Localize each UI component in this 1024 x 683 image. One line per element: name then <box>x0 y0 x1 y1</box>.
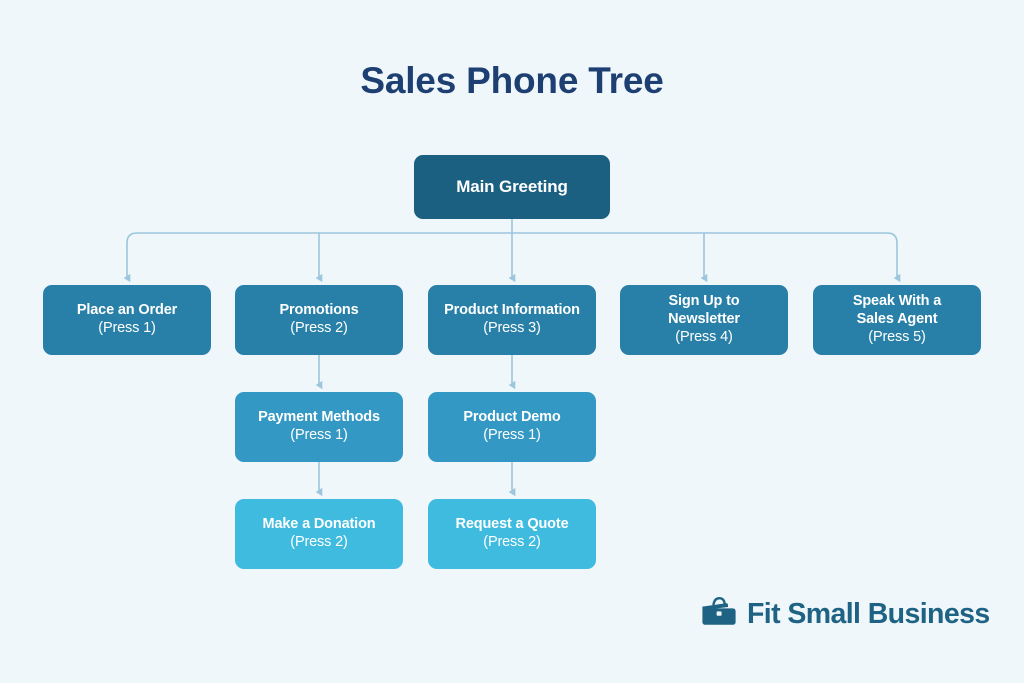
node-label: Main Greeting <box>456 177 567 198</box>
node-press: (Press 1) <box>98 320 155 338</box>
node-label: Speak With a Sales Agent <box>838 293 956 328</box>
briefcase-icon <box>700 597 738 632</box>
node-make-a-donation[interactable]: Make a Donation (Press 2) <box>235 499 403 569</box>
node-label: Payment Methods <box>258 409 380 427</box>
node-press: (Press 4) <box>675 329 732 347</box>
phone-tree-diagram: Sales Phone Tree Main Gr <box>0 0 1024 683</box>
node-label: Make a Donation <box>263 516 376 534</box>
connector-bus <box>127 233 897 243</box>
logo-text: Fit Small Business <box>747 598 990 631</box>
node-label: Sign Up to Newsletter <box>644 293 764 328</box>
node-place-an-order[interactable]: Place an Order (Press 1) <box>43 285 211 355</box>
node-label: Place an Order <box>77 302 177 320</box>
node-press: (Press 2) <box>483 534 540 552</box>
brand-logo: Fit Small Business <box>700 597 990 632</box>
node-product-demo[interactable]: Product Demo (Press 1) <box>428 392 596 462</box>
node-press: (Press 1) <box>290 427 347 445</box>
node-press: (Press 1) <box>483 427 540 445</box>
node-press: (Press 2) <box>290 320 347 338</box>
node-sign-up-to-newsletter[interactable]: Sign Up to Newsletter (Press 4) <box>620 285 788 355</box>
node-request-a-quote[interactable]: Request a Quote (Press 2) <box>428 499 596 569</box>
node-promotions[interactable]: Promotions (Press 2) <box>235 285 403 355</box>
node-press: (Press 2) <box>290 534 347 552</box>
node-press: (Press 5) <box>868 329 925 347</box>
node-product-information[interactable]: Product Information (Press 3) <box>428 285 596 355</box>
node-label: Request a Quote <box>456 516 569 534</box>
node-speak-with-a-sales-agent[interactable]: Speak With a Sales Agent (Press 5) <box>813 285 981 355</box>
node-label: Product Demo <box>463 409 560 427</box>
node-payment-methods[interactable]: Payment Methods (Press 1) <box>235 392 403 462</box>
node-press: (Press 3) <box>483 320 540 338</box>
node-label: Product Information <box>444 302 580 320</box>
page-title: Sales Phone Tree <box>0 60 1024 102</box>
node-label: Promotions <box>279 302 358 320</box>
node-main-greeting[interactable]: Main Greeting <box>414 155 610 219</box>
